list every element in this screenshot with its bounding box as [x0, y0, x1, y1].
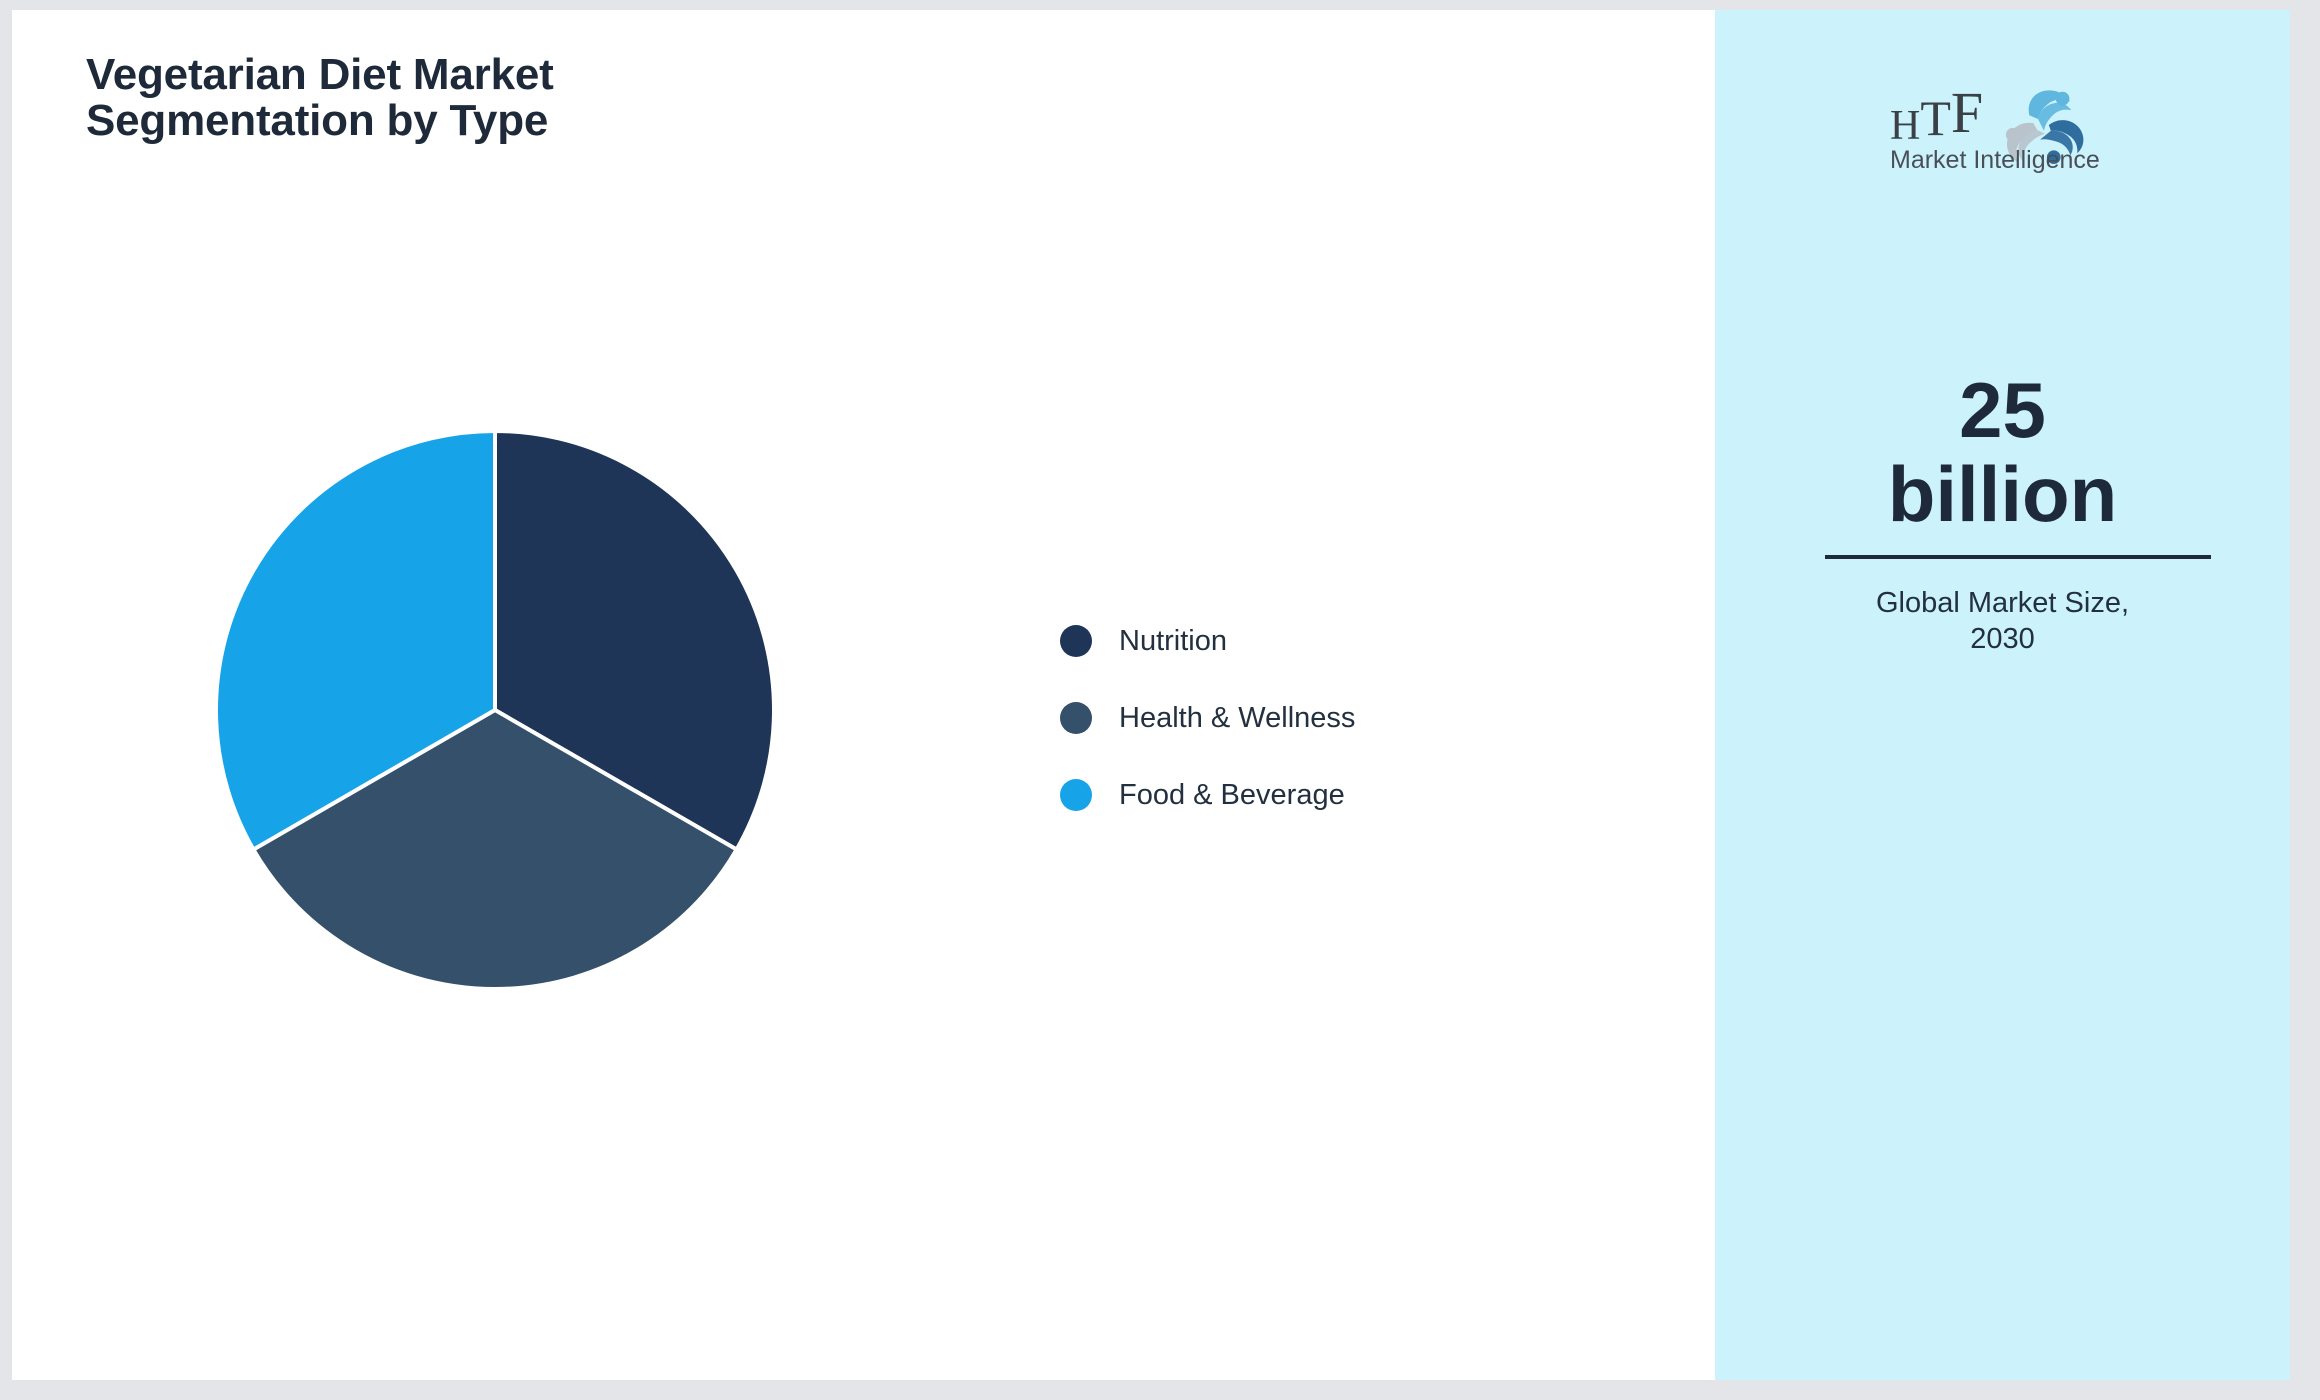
- stat-caption: Global Market Size, 2030: [1715, 585, 2290, 658]
- stat-value: 25 billion: [1715, 368, 2290, 536]
- brand-wordmark: HTF: [1890, 84, 1983, 147]
- pie-chart: [215, 430, 775, 990]
- legend-swatch-icon: [1060, 702, 1092, 734]
- brand-letter-h: H: [1890, 103, 1920, 149]
- pie-slice-group: [216, 431, 774, 989]
- page-title: Vegetarian Diet Market Segmentation by T…: [86, 52, 786, 144]
- legend-swatch-icon: [1060, 625, 1092, 657]
- legend-item-nutrition[interactable]: Nutrition: [1060, 615, 1355, 667]
- infographic-canvas: Vegetarian Diet Market Segmentation by T…: [0, 0, 2320, 1400]
- brand-letter-t: T: [1920, 90, 1951, 146]
- brand-logo-inner: HTF: [1890, 82, 2115, 192]
- main-content-panel: Vegetarian Diet Market Segmentation by T…: [12, 10, 1715, 1380]
- chart-legend: Nutrition Health & Wellness Food & Bever…: [1060, 615, 1355, 821]
- stat-sidebar: HTF: [1715, 10, 2290, 1380]
- brand-letter-f: F: [1951, 80, 1983, 145]
- legend-label: Food & Beverage: [1119, 779, 1345, 812]
- brand-logo: HTF: [1715, 82, 2290, 192]
- legend-item-health-wellness[interactable]: Health & Wellness: [1060, 692, 1355, 744]
- legend-swatch-icon: [1060, 779, 1092, 811]
- legend-label: Nutrition: [1119, 625, 1227, 658]
- brand-tagline: Market Intelligence: [1890, 146, 2115, 175]
- legend-item-food-beverage[interactable]: Food & Beverage: [1060, 769, 1355, 821]
- legend-label: Health & Wellness: [1119, 702, 1355, 735]
- pie-chart-svg: [215, 430, 775, 990]
- stat-divider: [1825, 555, 2211, 559]
